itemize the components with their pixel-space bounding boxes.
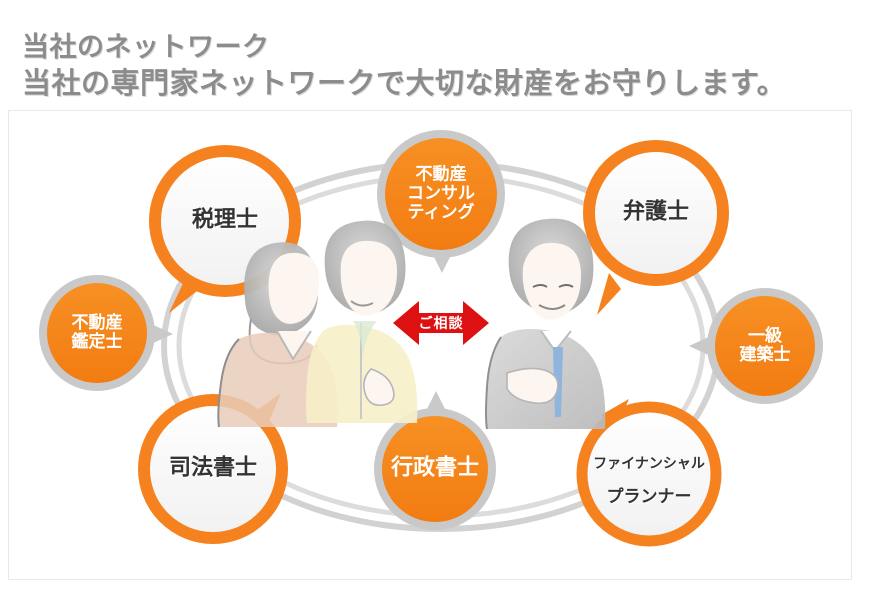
network-diagram-svg <box>8 110 852 580</box>
page-title: 当社のネットワーク 当社の専門家ネットワークで大切な財産をお守りします。 <box>22 30 862 103</box>
page-title-line1: 当社のネットワーク <box>22 30 862 65</box>
page-root: 当社のネットワーク 当社の専門家ネットワークで大切な財産をお守りします。 <box>0 0 876 595</box>
illustration-businessman <box>486 219 605 429</box>
node-real-estate-appraiser[interactable] <box>39 275 173 391</box>
page-title-line2: 当社の専門家ネットワークで大切な財産をお守りします。 <box>22 65 862 103</box>
consultation-arrow-badge <box>393 301 489 345</box>
diagram-canvas: 税理士 不動産 コンサル ティング 弁護士 不動産 鑑定士 一級 建築士 司法書… <box>9 111 851 579</box>
network-diagram-panel: 税理士 不動産 コンサル ティング 弁護士 不動産 鑑定士 一級 建築士 司法書… <box>8 110 852 580</box>
